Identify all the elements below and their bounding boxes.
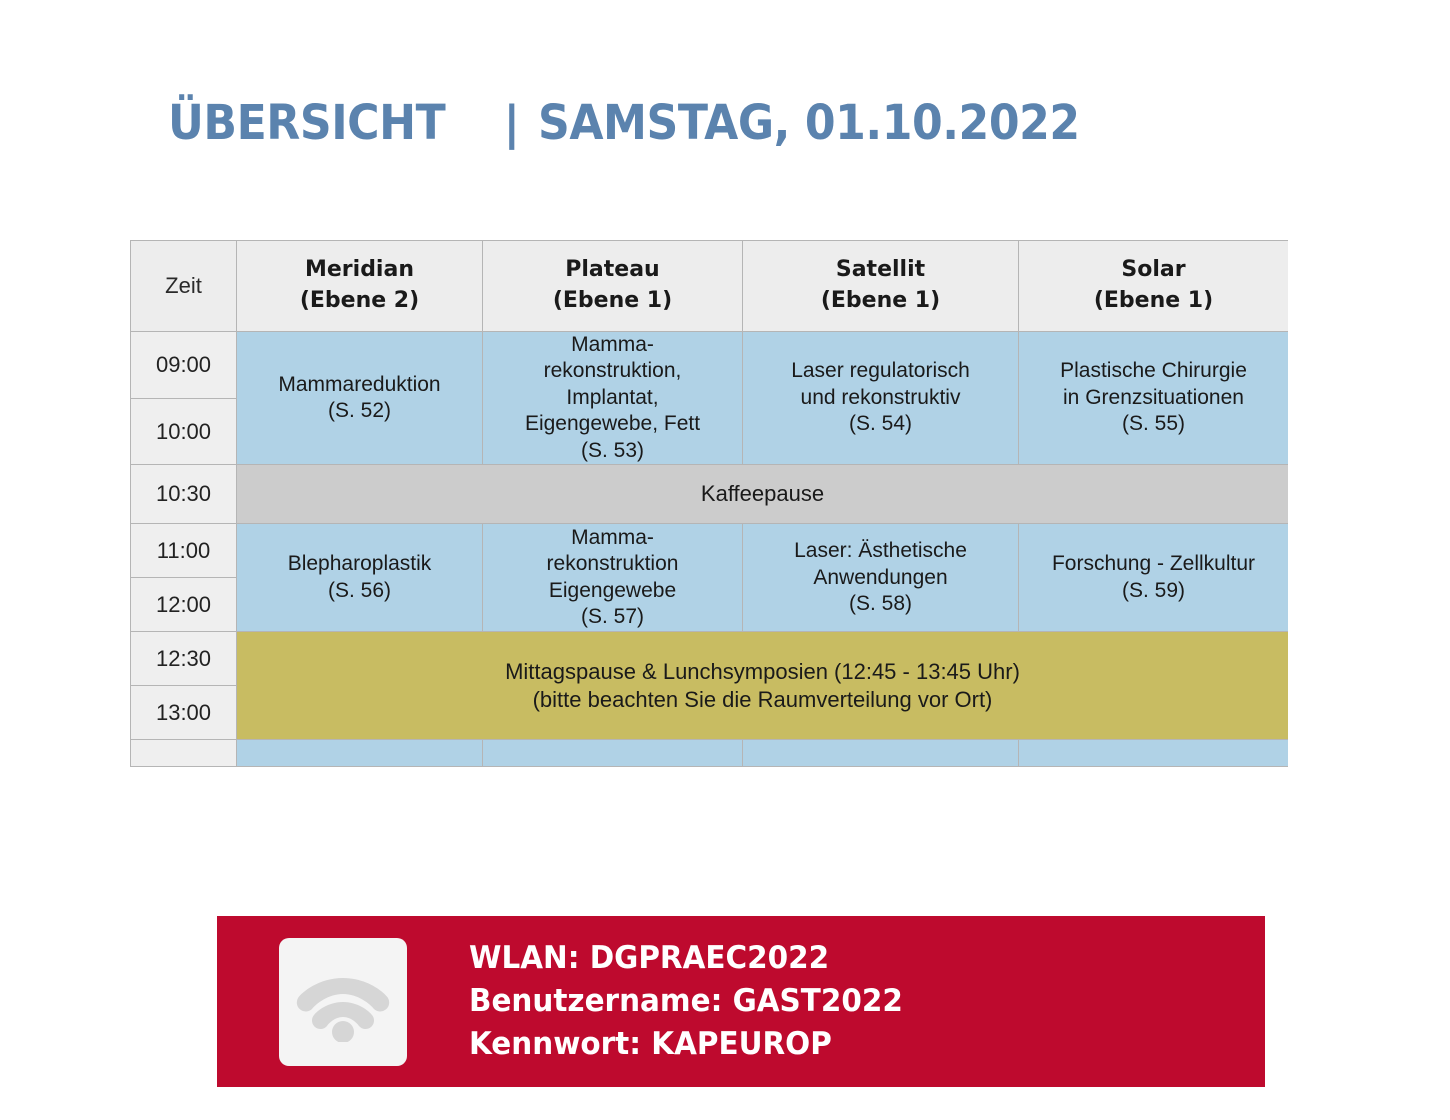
- wlan-credentials: WLAN: DGPRAEC2022 Benutzername: GAST2022…: [469, 937, 903, 1065]
- wlan-username-line: Benutzername: GAST2022: [469, 980, 903, 1023]
- time-label-0900: 09:00: [131, 332, 237, 399]
- session-solar-morning[interactable]: Plastische Chirurgiein Grenzsituationen(…: [1019, 332, 1289, 465]
- room-level-plateau: (Ebene 1): [483, 286, 742, 317]
- wlan-ssid-line: WLAN: DGPRAEC2022: [469, 937, 903, 980]
- lunch-break-cell: Mittagspause & Lunchsymposien (12:45 - 1…: [237, 632, 1289, 740]
- time-label-1030: 10:30: [131, 465, 237, 524]
- room-name-meridian: Meridian: [237, 255, 482, 286]
- wlan-info-banner: WLAN: DGPRAEC2022 Benutzername: GAST2022…: [217, 916, 1265, 1087]
- schedule-table-container: Zeit Meridian (Ebene 2) Plateau (Ebene 1…: [130, 240, 1288, 869]
- time-label-1000: 10:00: [131, 398, 237, 465]
- time-label-1200: 12:00: [131, 578, 237, 632]
- room-level-meridian: (Ebene 2): [237, 286, 482, 317]
- table-header-row: Zeit Meridian (Ebene 2) Plateau (Ebene 1…: [131, 241, 1289, 332]
- room-level-satellit: (Ebene 1): [743, 286, 1018, 317]
- room-name-solar: Solar: [1019, 255, 1288, 286]
- time-label-1230: 12:30: [131, 632, 237, 686]
- table-row-coffee-break: 10:30 Kaffeepause: [131, 465, 1289, 524]
- room-name-plateau: Plateau: [483, 255, 742, 286]
- session-solar-midday[interactable]: Forschung - Zellkultur(S. 59): [1019, 524, 1289, 632]
- table-row-partial-cutoff: [131, 740, 1289, 767]
- wlan-password-line: Kennwort: KAPEUROP: [469, 1023, 903, 1066]
- column-header-plateau: Plateau (Ebene 1): [483, 241, 743, 332]
- table-row: 11:00 Blepharoplastik(S. 56) Mamma-rekon…: [131, 524, 1289, 578]
- page-title-date: SAMSTAG, 01.10.2022: [538, 95, 1080, 151]
- session-meridian-partial[interactable]: [237, 740, 483, 767]
- time-label-1100: 11:00: [131, 524, 237, 578]
- page-title: ÜBERSICHT | SAMSTAG, 01.10.2022: [168, 95, 1127, 151]
- column-header-solar: Solar (Ebene 1): [1019, 241, 1289, 332]
- table-row: 09:00 Mammareduktion(S. 52) Mamma-rekons…: [131, 332, 1289, 399]
- session-satellit-midday[interactable]: Laser: ÄsthetischeAnwendungen(S. 58): [743, 524, 1019, 632]
- session-satellit-partial[interactable]: [743, 740, 1019, 767]
- session-meridian-morning[interactable]: Mammareduktion(S. 52): [237, 332, 483, 465]
- column-header-zeit: Zeit: [131, 241, 237, 332]
- session-solar-partial[interactable]: [1019, 740, 1289, 767]
- schedule-table: Zeit Meridian (Ebene 2) Plateau (Ebene 1…: [130, 240, 1288, 767]
- coffee-break-cell: Kaffeepause: [237, 465, 1289, 524]
- time-cell-partial: [131, 740, 237, 767]
- room-name-satellit: Satellit: [743, 255, 1018, 286]
- column-header-meridian: Meridian (Ebene 2): [237, 241, 483, 332]
- page-title-main: ÜBERSICHT: [168, 95, 445, 151]
- page-title-separator: |: [503, 96, 520, 150]
- column-header-satellit: Satellit (Ebene 1): [743, 241, 1019, 332]
- session-satellit-morning[interactable]: Laser regulatorischund rekonstruktiv(S. …: [743, 332, 1019, 465]
- time-label-1300: 13:00: [131, 686, 237, 740]
- session-plateau-partial[interactable]: [483, 740, 743, 767]
- wifi-icon: [279, 938, 407, 1066]
- session-plateau-morning[interactable]: Mamma-rekonstruktion,Implantat,Eigengewe…: [483, 332, 743, 465]
- session-plateau-midday[interactable]: Mamma-rekonstruktionEigengewebe(S. 57): [483, 524, 743, 632]
- room-level-solar: (Ebene 1): [1019, 286, 1288, 317]
- session-meridian-midday[interactable]: Blepharoplastik(S. 56): [237, 524, 483, 632]
- table-row-lunch-break: 12:30 Mittagspause & Lunchsymposien (12:…: [131, 632, 1289, 686]
